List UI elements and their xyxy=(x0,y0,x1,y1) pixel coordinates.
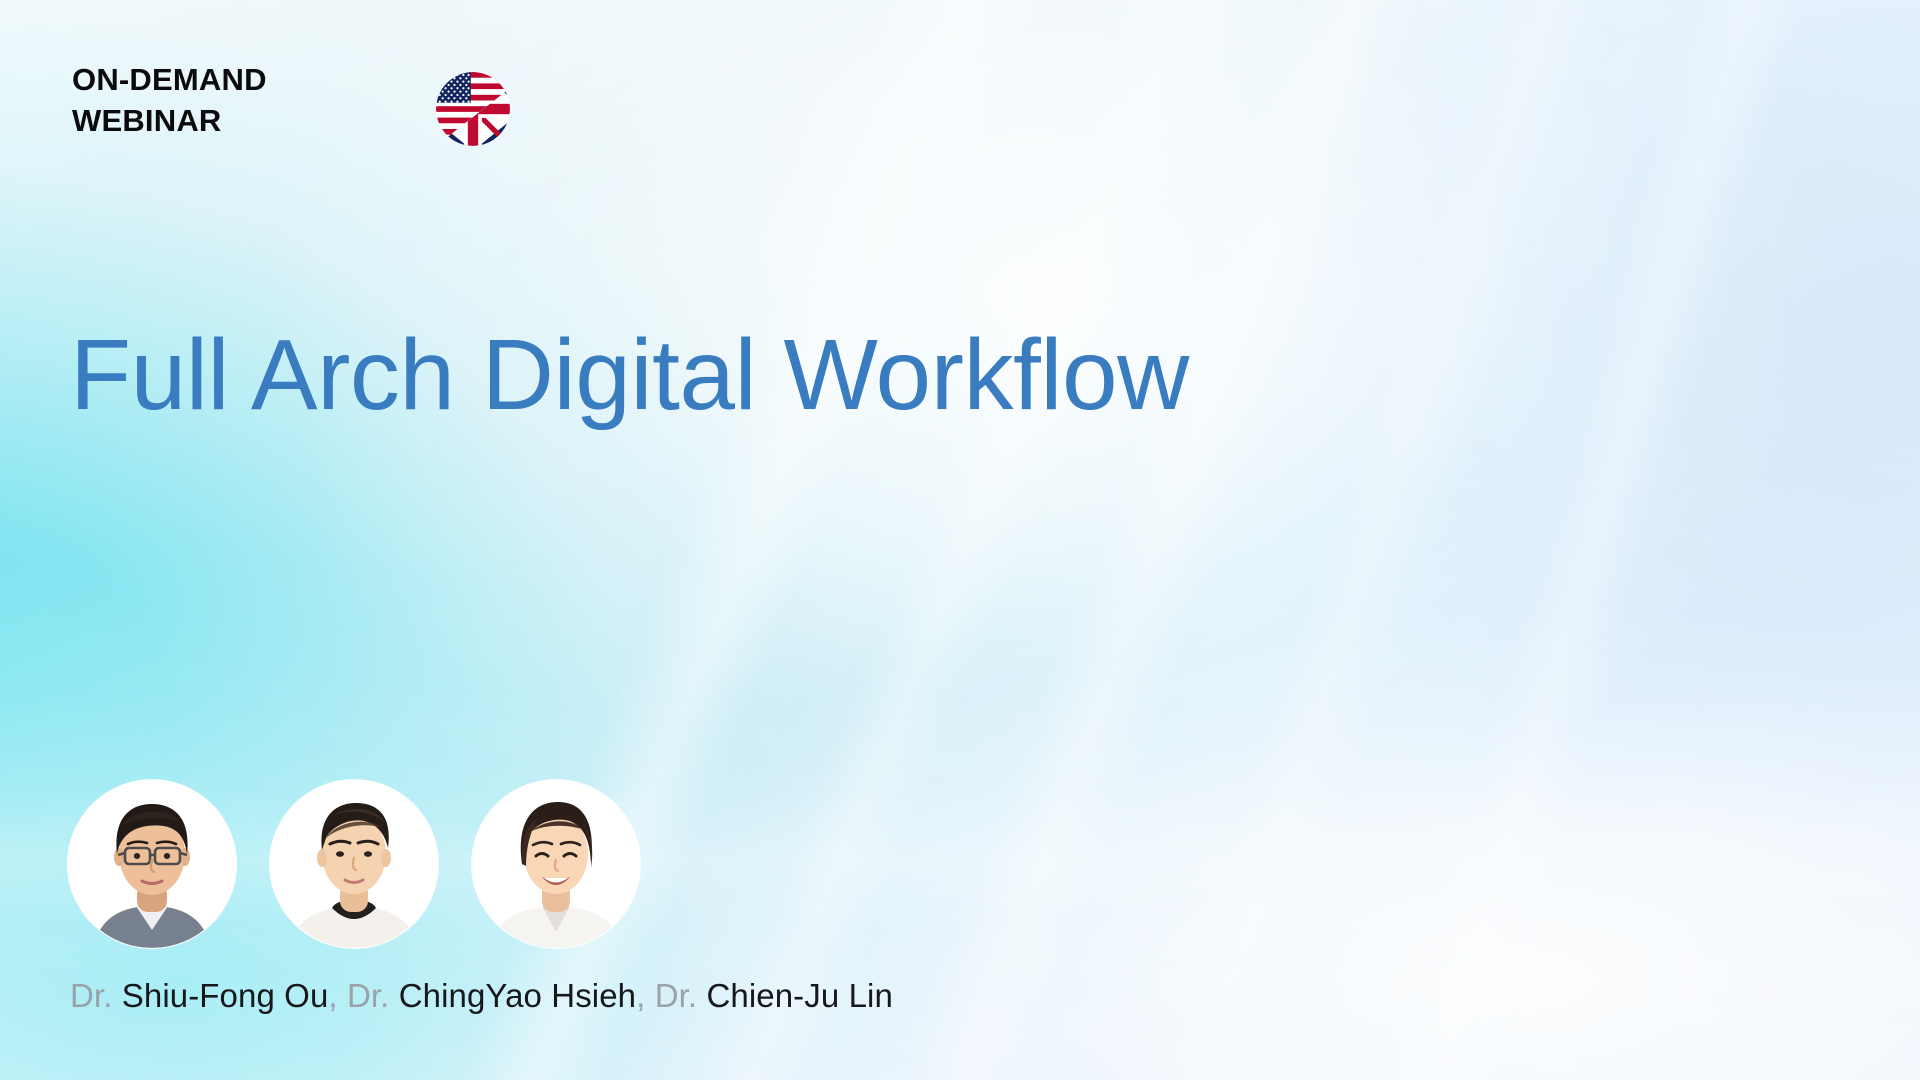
page-title: Full Arch Digital Workflow xyxy=(70,321,1189,429)
speaker-1-honorific: Dr. xyxy=(70,977,112,1014)
speaker-2-name-text: ChingYao Hsieh xyxy=(399,977,636,1014)
speaker-3-honorific: Dr. xyxy=(655,977,697,1014)
speaker-names: Dr. Shiu-Fong Ou, Dr. ChingYao Hsieh, Dr… xyxy=(70,977,893,1015)
speaker-avatars xyxy=(68,780,640,948)
speaker-3-name-text: Chien-Ju Lin xyxy=(706,977,892,1014)
avatar-chien-ju-lin xyxy=(472,780,640,948)
speaker-2-spacer xyxy=(389,977,398,1014)
avatar-shiu-fong-ou xyxy=(68,780,236,948)
us-uk-flag-icon xyxy=(436,72,510,146)
avatar-chingyao-hsieh xyxy=(270,780,438,948)
webinar-title-slide: ON-DEMAND WEBINAR xyxy=(0,0,1920,1080)
speaker-1-name-text: Shiu-Fong Ou xyxy=(122,977,329,1014)
speaker-2-honorific: Dr. xyxy=(347,977,389,1014)
name-separator-2: , xyxy=(636,977,655,1014)
speaker-1-name xyxy=(112,977,121,1014)
eyebrow-label: ON-DEMAND WEBINAR xyxy=(72,60,372,142)
slide-content: ON-DEMAND WEBINAR xyxy=(0,0,1920,1080)
name-separator-1: , xyxy=(328,977,347,1014)
